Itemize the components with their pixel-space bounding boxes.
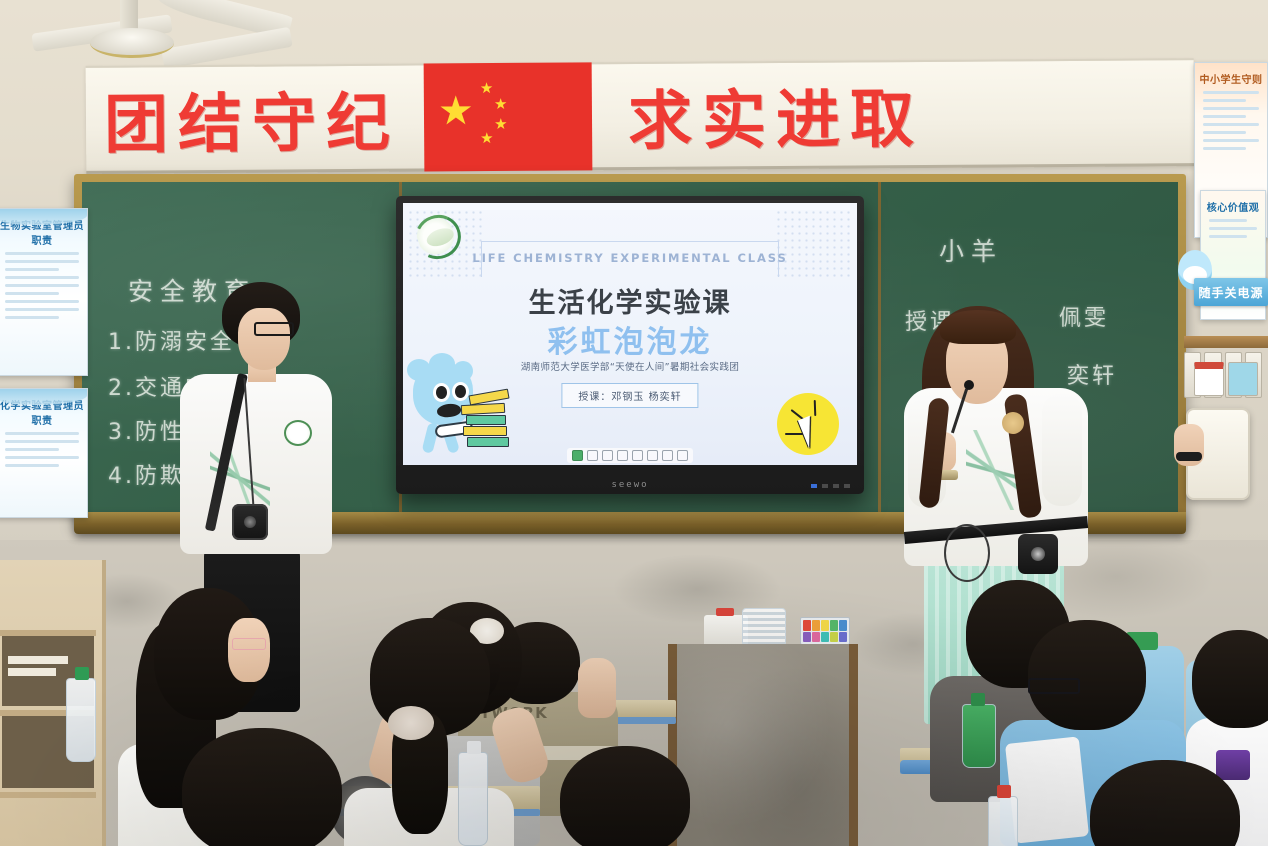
voice-amplifier [232,504,268,540]
books-stack-icon [461,387,509,447]
soda-bottle [962,704,996,768]
brand-icon[interactable] [572,450,583,461]
glasses-icon [1028,678,1080,694]
banner-left-text: 团结守纪 [86,71,401,165]
banner-right-text: 求实进取 [592,68,925,162]
breaker-switches-icon [1194,362,1258,396]
poster-bio-lab-duties: 生物实验室管理员职责 [0,208,88,376]
slide-dots-right [775,209,853,281]
pigment-box [800,617,850,645]
shape-icon[interactable] [662,450,673,461]
slide-annotation-toolbar[interactable] [567,448,693,463]
grid-icon[interactable] [587,450,598,461]
glasses-icon [254,322,294,336]
presentation-slide[interactable]: LIFE CHEMISTRY EXPERIMENTAL CLASS 生活化学实验… [403,203,857,465]
undo-icon[interactable] [632,450,643,461]
display-indicator-leds [811,484,850,488]
microphone-icon [964,380,974,390]
chalk-heading-xiaoyang: 小羊 [939,232,1003,268]
power-saving-sign: 随手关电源 [1194,278,1268,306]
poster-title: 中小学生守则 [1195,71,1267,86]
pen-icon[interactable] [617,450,628,461]
student-front-right [1080,760,1260,846]
water-bottle [66,678,96,762]
display-brand-label: seewo [611,480,648,490]
poster-title: 核心价值观 [1201,199,1265,214]
slide-english-title: LIFE CHEMISTRY EXPERIMENTAL CLASS [403,251,857,265]
water-bottle [458,752,488,846]
select-icon[interactable] [602,450,613,461]
eraser-icon[interactable] [677,450,688,461]
redo-icon[interactable] [647,450,658,461]
wall-shelf [1184,336,1268,348]
glasses-icon [232,638,266,650]
water-bottle [988,796,1018,846]
slide-sub-title: 彩虹泡泡龙 [403,317,857,361]
poster-chem-lab-duties: 化学实验室管理员职责 [0,388,88,518]
wall-banner: 团结守纪 ★★ ★★★ 求实进取 [86,58,1195,174]
interactive-display[interactable]: LIFE CHEMISTRY EXPERIMENTAL CLASS 生活化学实验… [396,196,864,494]
voice-amplifier [1018,534,1058,574]
cursor-click-icon [777,393,839,455]
student-foreground [148,728,378,846]
chinese-flag-icon: ★★ ★★★ [424,62,593,171]
slide-main-title: 生活化学实验课 [403,281,857,320]
classroom-photo: 团结守纪 ★★ ★★★ 求实进取 安全教育 1.防溺安全 2.交通安全 3.防性… [0,0,1268,846]
slide-credit: 授课：邓钢玉 杨奕轩 [561,383,698,408]
student-front-mid [560,746,700,846]
